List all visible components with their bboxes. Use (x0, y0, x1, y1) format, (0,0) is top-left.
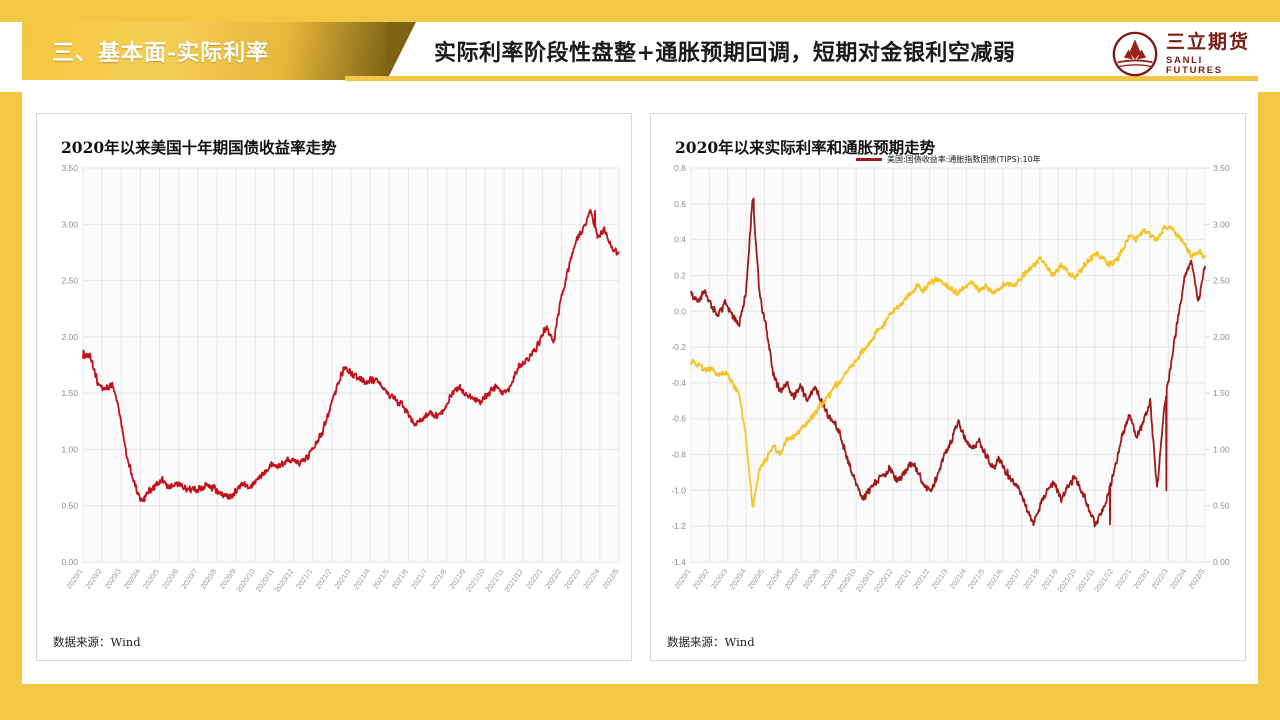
svg-text:3.50: 3.50 (1213, 163, 1230, 173)
header-gold-strip (0, 0, 1280, 22)
line-chart-right: -1.4-1.2-1.0-0.8-0.6-0.4-0.20.00.20.40.6… (651, 158, 1247, 638)
svg-text:2020/3: 2020/3 (709, 567, 729, 591)
svg-text:3.00: 3.00 (61, 219, 78, 229)
source-note-right: 数据来源：Wind (667, 634, 755, 650)
svg-text:2.50: 2.50 (1213, 276, 1230, 286)
section-title: 三、基本面-实际利率 (52, 35, 269, 67)
svg-text:2020/7: 2020/7 (782, 567, 802, 591)
svg-text:3.00: 3.00 (1213, 219, 1230, 229)
svg-text:2021/3: 2021/3 (929, 567, 949, 591)
svg-text:2022/4: 2022/4 (1168, 567, 1188, 591)
header-headline: 实际利率阶段性盘整+通胀预期回调，短期对金银利空减弱 (434, 22, 1015, 80)
svg-text:2021/2: 2021/2 (313, 567, 333, 591)
svg-text:2020/8: 2020/8 (198, 567, 218, 591)
svg-text:0.2: 0.2 (674, 270, 686, 280)
svg-text:2021/1: 2021/1 (893, 567, 913, 591)
svg-text:-0.4: -0.4 (671, 378, 686, 388)
svg-text:2022/4: 2022/4 (581, 567, 601, 591)
svg-text:2021/4: 2021/4 (351, 567, 371, 591)
logo-text-block: 三立期货 SANLI FUTURES (1166, 33, 1260, 75)
svg-text:0.0: 0.0 (674, 306, 686, 316)
svg-text:1.00: 1.00 (1213, 444, 1230, 454)
svg-text:0.4: 0.4 (674, 235, 686, 245)
svg-text:2.00: 2.00 (1213, 332, 1230, 342)
svg-text:2020/12: 2020/12 (872, 567, 895, 594)
svg-text:0.00: 0.00 (61, 557, 78, 567)
svg-text:2021/6: 2021/6 (390, 567, 410, 591)
svg-text:2021/5: 2021/5 (966, 567, 986, 591)
svg-text:2020/3: 2020/3 (103, 567, 123, 591)
logo-name-cn: 三立期货 (1166, 33, 1260, 52)
logo-name-en: SANLI FUTURES (1166, 56, 1260, 75)
chart-panel-left: 2020年以来美国十年期国债收益率走势 0.000.501.001.502.00… (36, 113, 632, 661)
svg-text:3.50: 3.50 (61, 163, 78, 173)
chart-title-left: 2020年以来美国十年期国债收益率走势 (61, 136, 337, 158)
svg-text:2022/2: 2022/2 (543, 567, 563, 591)
svg-text:2022/1: 2022/1 (524, 567, 544, 591)
svg-text:0.6: 0.6 (674, 199, 686, 209)
svg-text:2022/3: 2022/3 (1150, 567, 1170, 591)
svg-text:2020/6: 2020/6 (160, 567, 180, 591)
plot-area-left: 0.000.501.001.502.002.503.003.502020/120… (37, 158, 633, 638)
header-band: 三、基本面-实际利率 实际利率阶段性盘整+通胀预期回调，短期对金银利空减弱 (22, 22, 1258, 80)
company-logo: 三立期货 SANLI FUTURES (1112, 30, 1260, 78)
svg-text:0.50: 0.50 (61, 501, 78, 511)
svg-text:2020/4: 2020/4 (727, 567, 747, 591)
svg-text:-1.0: -1.0 (671, 485, 686, 495)
svg-text:0.50: 0.50 (1213, 501, 1230, 511)
svg-text:1.50: 1.50 (1213, 388, 1230, 398)
svg-text:0.8: 0.8 (674, 163, 686, 173)
svg-text:2021/7: 2021/7 (409, 567, 429, 591)
svg-text:0.00: 0.00 (1213, 557, 1230, 567)
svg-text:-0.2: -0.2 (671, 342, 686, 352)
svg-text:2.50: 2.50 (61, 276, 78, 286)
svg-text:2021/3: 2021/3 (332, 567, 352, 591)
svg-text:2021/8: 2021/8 (1021, 567, 1041, 591)
section-tag: 三、基本面-实际利率 (22, 22, 387, 80)
svg-text:2022/2: 2022/2 (1131, 567, 1151, 591)
mountain-logo-icon (1112, 31, 1158, 77)
svg-text:2020/4: 2020/4 (122, 567, 142, 591)
svg-text:1.50: 1.50 (61, 388, 78, 398)
svg-text:2021/10: 2021/10 (464, 567, 487, 594)
svg-text:2020/5: 2020/5 (746, 567, 766, 591)
svg-text:2.00: 2.00 (61, 332, 78, 342)
svg-text:2021/12: 2021/12 (1092, 567, 1115, 594)
line-chart-left: 0.000.501.001.502.002.503.003.502020/120… (37, 158, 633, 638)
svg-text:2020/2: 2020/2 (691, 567, 711, 591)
svg-text:2021/8: 2021/8 (428, 567, 448, 591)
svg-text:2022/1: 2022/1 (1113, 567, 1133, 591)
svg-text:2020/10: 2020/10 (234, 567, 257, 594)
svg-text:2020/6: 2020/6 (764, 567, 784, 591)
svg-text:-1.2: -1.2 (671, 521, 686, 531)
svg-text:-0.8: -0.8 (671, 450, 686, 460)
svg-text:2021/6: 2021/6 (984, 567, 1004, 591)
source-note-left: 数据来源：Wind (53, 634, 141, 650)
chart-panel-right: 2020年以来实际利率和通胀预期走势 美国:国债收益率:通胀指数国债(TIPS)… (650, 113, 1246, 661)
svg-text:-1.4: -1.4 (671, 557, 686, 567)
svg-text:2022/3: 2022/3 (562, 567, 582, 591)
svg-text:2020/1: 2020/1 (672, 567, 692, 591)
svg-text:2021/4: 2021/4 (948, 567, 968, 591)
svg-text:2021/5: 2021/5 (371, 567, 391, 591)
svg-text:2022/5: 2022/5 (1186, 567, 1206, 591)
svg-text:2021/7: 2021/7 (1003, 567, 1023, 591)
slide-header: 三、基本面-实际利率 实际利率阶段性盘整+通胀预期回调，短期对金银利空减弱 三立… (0, 0, 1280, 92)
svg-text:2020/12: 2020/12 (273, 567, 296, 594)
svg-text:2021/12: 2021/12 (502, 567, 525, 594)
svg-text:2022/5: 2022/5 (600, 567, 620, 591)
svg-text:1.00: 1.00 (61, 444, 78, 454)
svg-text:2020/2: 2020/2 (83, 567, 103, 591)
svg-text:2020/8: 2020/8 (801, 567, 821, 591)
svg-text:2020/7: 2020/7 (179, 567, 199, 591)
svg-text:2021/2: 2021/2 (911, 567, 931, 591)
plot-area-right: -1.4-1.2-1.0-0.8-0.6-0.4-0.20.00.20.40.6… (651, 158, 1247, 638)
svg-text:2021/1: 2021/1 (294, 567, 314, 591)
slide-root: 三、基本面-实际利率 实际利率阶段性盘整+通胀预期回调，短期对金银利空减弱 三立… (0, 0, 1280, 720)
svg-text:2020/1: 2020/1 (64, 567, 84, 591)
svg-text:-0.6: -0.6 (671, 414, 686, 424)
svg-text:2020/5: 2020/5 (141, 567, 161, 591)
